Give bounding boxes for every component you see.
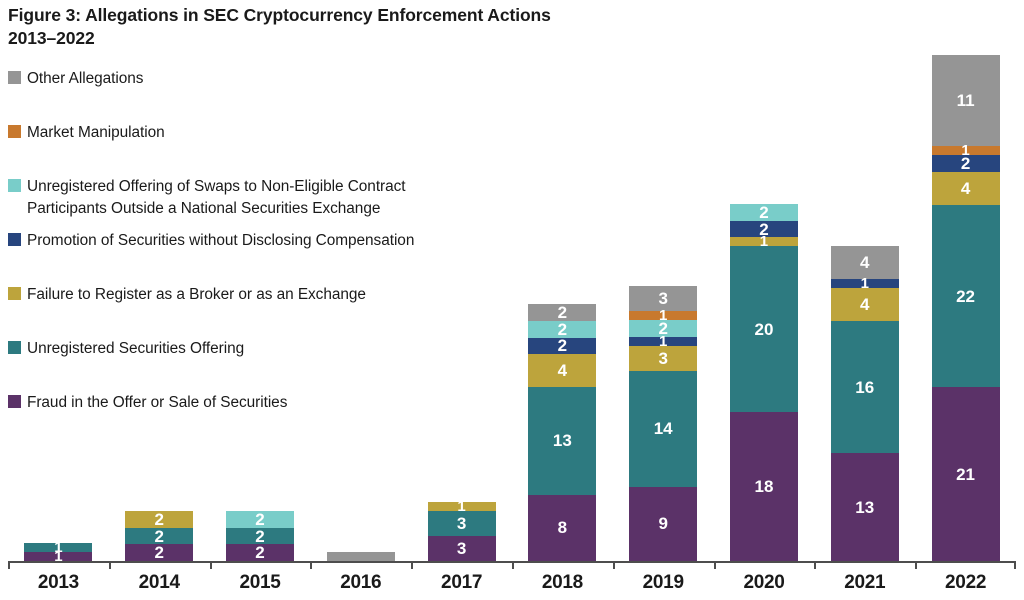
x-tick-cell-2018 — [512, 561, 613, 569]
x-axis-label-2015: 2015 — [210, 572, 311, 594]
stacked-bar-2013[interactable]: 11 — [24, 543, 92, 561]
x-tick-cell-2015 — [210, 561, 311, 569]
bar-segment-value: 22 — [956, 288, 975, 305]
stacked-bar-2020[interactable]: 2212018 — [730, 204, 798, 561]
bar-segment-unregistered-2021[interactable]: 16 — [831, 321, 899, 453]
bar-segment-value: 2 — [255, 544, 264, 561]
bar-slot-2015: 222 — [210, 56, 311, 561]
bar-segment-value: 2 — [255, 528, 264, 545]
x-tick-cell-2022 — [915, 561, 1016, 569]
bar-segment-broker-2017[interactable]: 1 — [428, 502, 496, 511]
bar-segment-promotion-2018[interactable]: 2 — [528, 338, 596, 355]
bar-segment-value: 4 — [961, 180, 970, 197]
stacked-bar-2021[interactable]: 4141613 — [831, 246, 899, 561]
x-tick-mark — [310, 561, 312, 569]
bar-slot-2018: 2224138 — [512, 56, 613, 561]
x-axis-label-2019: 2019 — [613, 572, 714, 594]
bar-segment-promotion-2019[interactable]: 1 — [629, 337, 697, 346]
bar-segment-swaps-2020[interactable]: 2 — [730, 204, 798, 221]
bar-segment-value: 11 — [957, 92, 975, 109]
bar-segment-unregistered-2014[interactable]: 2 — [125, 528, 193, 545]
bar-segment-value: 2 — [154, 511, 163, 528]
bar-slot-2013: 11 — [8, 56, 109, 561]
bar-slot-2020: 2212018 — [714, 56, 815, 561]
bar-segment-broker-2022[interactable]: 4 — [932, 172, 1000, 205]
bar-segment-unregistered-2017[interactable]: 3 — [428, 511, 496, 536]
bar-segment-value: 2 — [255, 511, 264, 528]
x-axis-label-2018: 2018 — [512, 572, 613, 594]
bar-segment-value: 9 — [658, 515, 667, 532]
x-axis-label-2016: 2016 — [310, 572, 411, 594]
bar-segment-value: 14 — [654, 420, 673, 437]
x-tick-cell-2013 — [8, 561, 109, 569]
bar-segment-broker-2020[interactable]: 1 — [730, 237, 798, 246]
x-tick-mark — [814, 561, 816, 569]
bar-segment-fraud-2014[interactable]: 2 — [125, 544, 193, 561]
bar-segment-unregistered-2018[interactable]: 13 — [528, 387, 596, 495]
bar-segment-value: 13 — [855, 499, 874, 516]
bar-segment-unregistered-2020[interactable]: 20 — [730, 246, 798, 412]
bar-segment-value: 2 — [558, 304, 567, 321]
x-tick-mark — [411, 561, 413, 569]
stacked-bar-2016[interactable] — [327, 552, 395, 561]
bar-segment-fraud-2018[interactable]: 8 — [528, 495, 596, 561]
x-axis-ticks — [8, 561, 1016, 569]
bar-group: 1122222213322241383121314922120184141613… — [8, 56, 1016, 561]
bar-segment-value: 3 — [658, 350, 667, 367]
bar-segment-broker-2018[interactable]: 4 — [528, 354, 596, 387]
bar-segment-value: 2 — [154, 544, 163, 561]
bar-slot-2017: 133 — [411, 56, 512, 561]
x-tick-cell-2021 — [814, 561, 915, 569]
stacked-bar-2018[interactable]: 2224138 — [528, 304, 596, 561]
x-axis-label-2020: 2020 — [714, 572, 815, 594]
x-tick-mark-end — [1014, 561, 1016, 569]
stacked-bar-2019[interactable]: 31213149 — [629, 286, 697, 561]
bar-segment-promotion-2021[interactable]: 1 — [831, 279, 899, 288]
bar-segment-value: 3 — [658, 290, 667, 307]
bar-segment-fraud-2021[interactable]: 13 — [831, 453, 899, 561]
bar-slot-2016 — [310, 56, 411, 561]
bar-segment-unregistered-2015[interactable]: 2 — [226, 528, 294, 545]
bar-segment-swaps-2018[interactable]: 2 — [528, 321, 596, 338]
stacked-bar-2015[interactable]: 222 — [226, 511, 294, 561]
x-tick-mark — [109, 561, 111, 569]
bar-segment-unregistered-2022[interactable]: 22 — [932, 205, 1000, 387]
bar-segment-other-2018[interactable]: 2 — [528, 304, 596, 321]
bar-segment-other-2021[interactable]: 4 — [831, 246, 899, 279]
x-axis-label-2017: 2017 — [411, 572, 512, 594]
bar-slot-2019: 31213149 — [613, 56, 714, 561]
bar-segment-broker-2019[interactable]: 3 — [629, 346, 697, 371]
x-tick-cell-2017 — [411, 561, 512, 569]
bar-segment-unregistered-2019[interactable]: 14 — [629, 371, 697, 487]
bar-segment-value: 21 — [956, 466, 975, 483]
bar-segment-other-2022[interactable]: 11 — [932, 55, 1000, 146]
bar-segment-fraud-2015[interactable]: 2 — [226, 544, 294, 561]
x-tick-mark — [512, 561, 514, 569]
bar-segment-value: 2 — [961, 155, 970, 172]
stacked-bar-2014[interactable]: 222 — [125, 511, 193, 561]
bar-segment-fraud-2019[interactable]: 9 — [629, 487, 697, 562]
x-axis-labels: 2013201420152016201720182019202020212022 — [8, 572, 1016, 594]
bar-segment-value: 2 — [558, 337, 567, 354]
page-title: Figure 3: Allegations in SEC Cryptocurre… — [8, 4, 708, 51]
bar-slot-2014: 222 — [109, 56, 210, 561]
bar-segment-fraud-2020[interactable]: 18 — [730, 412, 798, 561]
bar-segment-value: 16 — [855, 379, 874, 396]
bar-segment-value: 3 — [457, 540, 466, 557]
x-tick-mark — [210, 561, 212, 569]
bar-segment-value: 2 — [558, 321, 567, 338]
x-tick-mark — [613, 561, 615, 569]
bar-slot-2022: 111242221 — [915, 56, 1016, 561]
bar-segment-value: 4 — [558, 362, 567, 379]
bar-slot-2021: 4141613 — [814, 56, 915, 561]
bar-segment-fraud-2013[interactable]: 1 — [24, 552, 92, 561]
plot-area: 1122222213322241383121314922120184141613… — [8, 56, 1016, 561]
bar-segment-broker-2021[interactable]: 4 — [831, 288, 899, 321]
bar-segment-value: 8 — [558, 519, 567, 536]
bar-segment-value: 2 — [759, 204, 768, 221]
bar-segment-value: 3 — [457, 515, 466, 532]
bar-segment-value: 2 — [154, 528, 163, 545]
x-axis-label-2022: 2022 — [915, 572, 1016, 594]
x-tick-mark — [714, 561, 716, 569]
bar-segment-value: 18 — [755, 478, 774, 495]
x-tick-cell-2020 — [714, 561, 815, 569]
bar-segment-promotion-2022[interactable]: 2 — [932, 155, 1000, 172]
x-axis-label-2014: 2014 — [109, 572, 210, 594]
bar-segment-value: 13 — [553, 432, 572, 449]
x-tick-cell-2016 — [310, 561, 411, 569]
bar-segment-broker-2014[interactable]: 2 — [125, 511, 193, 528]
figure-container: Figure 3: Allegations in SEC Cryptocurre… — [0, 0, 1024, 600]
stacked-bar-2017[interactable]: 133 — [428, 502, 496, 561]
bar-segment-fraud-2022[interactable]: 21 — [932, 387, 1000, 561]
bar-segment-other-2016[interactable] — [327, 552, 395, 561]
bar-segment-fraud-2017[interactable]: 3 — [428, 536, 496, 561]
x-tick-cell-2014 — [109, 561, 210, 569]
x-tick-mark — [915, 561, 917, 569]
x-axis-label-2021: 2021 — [814, 572, 915, 594]
bar-segment-value: 20 — [755, 321, 774, 338]
bar-segment-value: 4 — [860, 296, 869, 313]
bar-segment-value: 4 — [860, 254, 869, 271]
x-tick-cell-2019 — [613, 561, 714, 569]
x-axis-label-2013: 2013 — [8, 572, 109, 594]
bar-segment-swaps-2015[interactable]: 2 — [226, 511, 294, 528]
x-tick-mark — [8, 561, 10, 569]
stacked-bar-2022[interactable]: 111242221 — [932, 55, 1000, 561]
